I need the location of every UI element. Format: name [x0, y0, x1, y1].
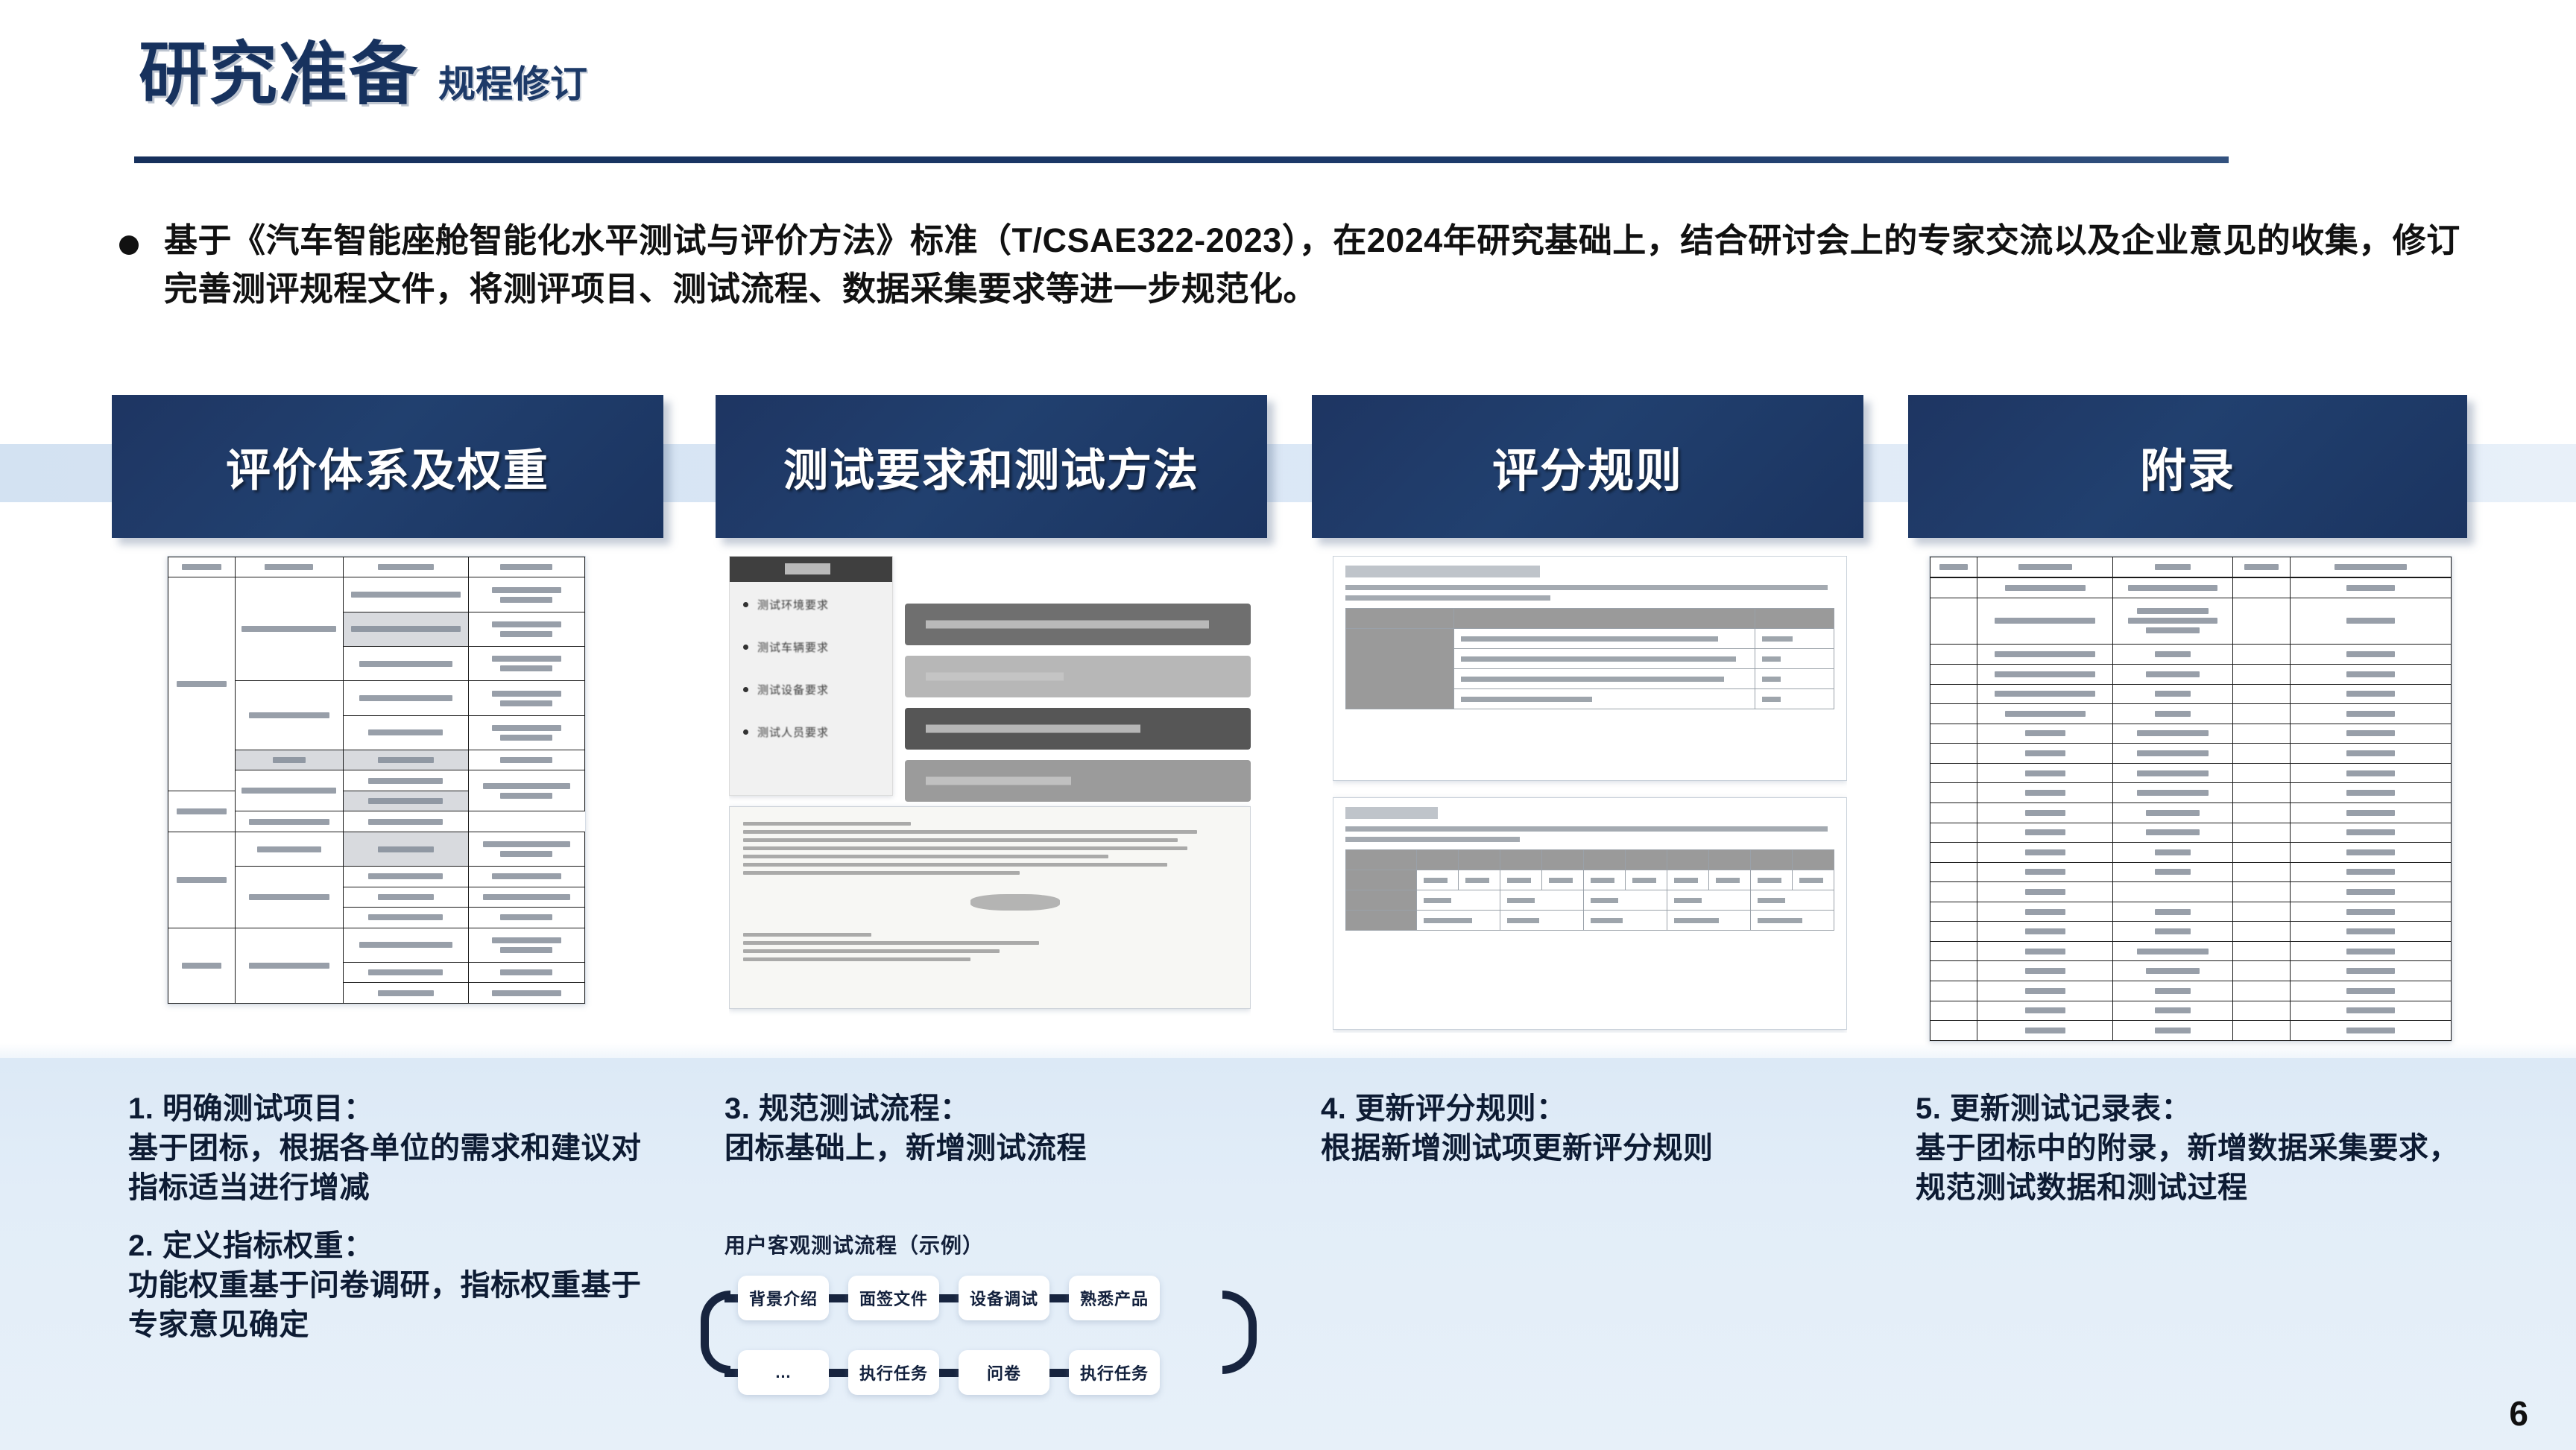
scoring-sheet-lower — [1333, 797, 1847, 1030]
flow-connector — [1049, 1294, 1069, 1302]
title-sub-text: 规程修订 — [438, 66, 587, 109]
bullet-dot-icon — [119, 235, 139, 255]
flow-connector — [724, 1369, 738, 1377]
content-bar — [905, 604, 1251, 645]
caption-block: 1. 明确测试项目： 基于团标，根据各单位的需求和建议对指标适当进行增减 — [128, 1089, 643, 1207]
content-bar — [905, 656, 1251, 697]
requirement-item-label: 测试环境要求 — [757, 597, 829, 612]
list-item: 测试车辆要求 — [743, 639, 882, 655]
content-bar — [905, 760, 1251, 802]
content-bar — [905, 708, 1251, 750]
flow-node[interactable]: 背景介绍 — [738, 1276, 829, 1320]
scoring-sheet-upper — [1333, 556, 1847, 781]
column-evaluation-system: 评价体系及权重 — [112, 395, 663, 1004]
column-header-test-requirements[interactable]: 测试要求和测试方法 — [716, 395, 1267, 538]
flow-connector — [829, 1294, 848, 1302]
thumbnail-scoring-tables[interactable] — [1333, 556, 1847, 1033]
requirement-item-label: 测试车辆要求 — [757, 639, 829, 655]
flow-loop-right-connector — [1222, 1291, 1257, 1374]
list-item: 测试设备要求 — [743, 682, 882, 697]
flow-connector — [1049, 1369, 1069, 1377]
caption-scoring-rules: 4. 更新评分规则： 根据新增测试项更新评分规则 — [1321, 1089, 1872, 1168]
title-divider-rule — [134, 156, 2229, 163]
requirement-card: 测试环境要求 测试车辆要求 测试设备要求 — [729, 556, 893, 796]
flow-node[interactable]: 执行任务 — [1069, 1350, 1160, 1395]
sheet-title-bar — [1345, 566, 1540, 577]
flow-node[interactable]: 问卷 — [959, 1350, 1049, 1395]
caption-block: 2. 定义指标权重： 功能权重基于问卷调研，指标权重基于专家意见确定 — [128, 1226, 643, 1344]
bullet-dot-icon — [743, 729, 748, 735]
record-table — [1930, 557, 2452, 1041]
flow-connector — [724, 1294, 738, 1302]
flow-node[interactable]: 设备调试 — [959, 1276, 1049, 1320]
column-header-label: 评价体系及权重 — [226, 434, 549, 499]
flow-connector — [829, 1369, 848, 1377]
bullet-dot-icon — [743, 602, 748, 607]
thumbnail-requirement-list[interactable]: 测试环境要求 测试车辆要求 测试设备要求 — [729, 556, 1251, 1018]
requirement-bullet-list: 测试环境要求 测试车辆要求 测试设备要求 — [730, 582, 892, 740]
column-header-evaluation-system[interactable]: 评价体系及权重 — [112, 395, 663, 538]
slide-title: 研究准备 规程修订 — [139, 40, 587, 109]
flowchart-body: 背景介绍 面签文件 设备调试 熟悉产品 … 执行任务 问卷 执行任务 — [724, 1273, 1254, 1407]
requirement-item-label: 测试设备要求 — [757, 682, 829, 697]
flow-node[interactable]: 执行任务 — [848, 1350, 939, 1395]
score-matrix-table — [1345, 849, 1834, 931]
caption-block: 4. 更新评分规则： 根据新增测试项更新评分规则 — [1321, 1089, 1872, 1168]
scanned-document-thumbnail — [729, 806, 1251, 1009]
scoring-table — [1345, 608, 1834, 709]
column-appendix: 附录 — [1908, 395, 2467, 1042]
column-header-label: 评分规则 — [1492, 433, 1683, 500]
bullet-paragraph-text: 基于《汽车智能座舱智能化水平测试与评价方法》标准（T/CSAE322‑2023）… — [164, 216, 2490, 314]
flowchart-title: 用户客观测试流程（示例） — [724, 1229, 1276, 1259]
caption-block: 5. 更新测试记录表： 基于团标中的附录，新增数据采集要求，规范测试数据和测试过… — [1916, 1089, 2467, 1207]
bullet-dot-icon — [743, 687, 748, 692]
column-header-scoring-rules[interactable]: 评分规则 — [1312, 395, 1863, 538]
user-test-flowchart: 用户客观测试流程（示例） 背景介绍 面签文件 设备调试 熟悉产品 … 执行任务 — [724, 1229, 1276, 1407]
flow-connector — [939, 1369, 959, 1377]
column-header-label: 测试要求和测试方法 — [783, 434, 1199, 499]
flowchart-row-1: 背景介绍 面签文件 设备调试 熟悉产品 — [724, 1276, 1160, 1320]
card-header-bar — [730, 557, 892, 582]
column-header-appendix[interactable]: 附录 — [1908, 395, 2467, 538]
flow-node[interactable]: 面签文件 — [848, 1276, 939, 1320]
caption-appendix: 5. 更新测试记录表： 基于团标中的附录，新增数据采集要求，规范测试数据和测试过… — [1916, 1089, 2467, 1207]
list-item: 测试人员要求 — [743, 724, 882, 740]
column-header-label: 附录 — [2140, 433, 2235, 500]
flow-connector — [939, 1294, 959, 1302]
column-scoring-rules: 评分规则 — [1312, 395, 1863, 1033]
page-number: 6 — [2509, 1393, 2528, 1434]
list-item: 测试环境要求 — [743, 597, 882, 612]
bullet-dot-icon — [743, 645, 748, 650]
flow-node[interactable]: … — [738, 1350, 829, 1395]
caption-block: 3. 规范测试流程： 团标基础上，新增测试流程 — [724, 1089, 1246, 1168]
thumbnail-indicator-table[interactable] — [167, 556, 586, 1004]
flowchart-row-2: … 执行任务 问卷 执行任务 — [724, 1350, 1160, 1395]
caption-test-requirements: 3. 规范测试流程： 团标基础上，新增测试流程 — [724, 1089, 1246, 1168]
doc-table — [168, 557, 585, 1004]
thumbnail-record-sheet[interactable] — [1929, 556, 2452, 1042]
slide-canvas: 研究准备 规程修订 基于《汽车智能座舱智能化水平测试与评价方法》标准（T/CSA… — [0, 0, 2576, 1450]
column-test-requirements: 测试要求和测试方法 测试环境要求 测试车 — [716, 395, 1267, 1018]
flow-node[interactable]: 熟悉产品 — [1069, 1276, 1160, 1320]
requirement-item-label: 测试人员要求 — [757, 724, 829, 740]
title-main-text: 研究准备 — [139, 40, 419, 109]
caption-evaluation-system: 1. 明确测试项目： 基于团标，根据各单位的需求和建议对指标适当进行增减 2. … — [128, 1089, 643, 1345]
sheet-title-bar — [1345, 807, 1438, 819]
bullet-paragraph: 基于《汽车智能座舱智能化水平测试与评价方法》标准（T/CSAE322‑2023）… — [119, 216, 2490, 314]
